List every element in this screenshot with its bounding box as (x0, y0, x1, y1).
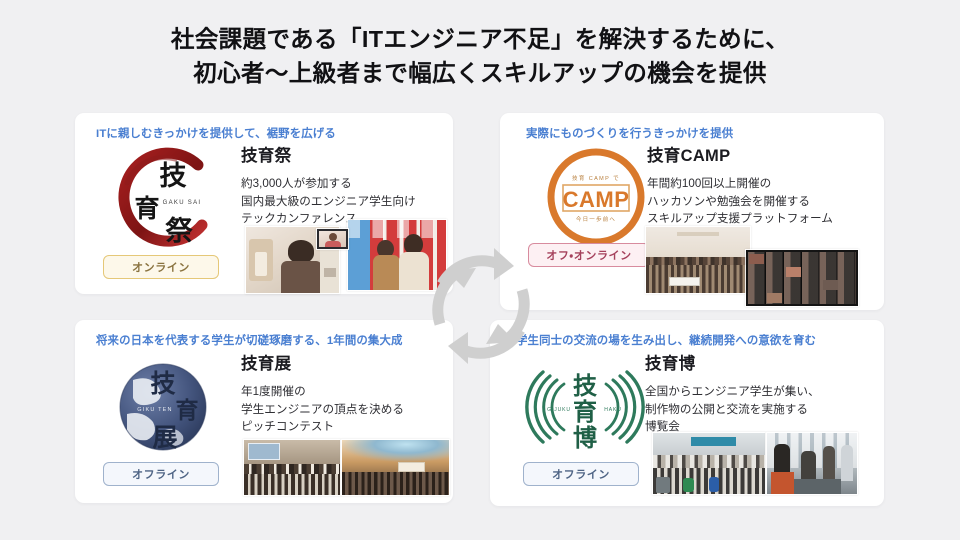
event-name: 技育博 (645, 350, 820, 374)
svg-text:展: 展 (152, 423, 177, 452)
svg-text:GIKU TEN: GIKU TEN (137, 407, 172, 413)
event-desc-line-2: 国内最大級のエンジニア学生向け (241, 193, 416, 211)
gikucamp-logo: 技育 CAMP で CAMP 今日一歩前へ (533, 141, 659, 253)
svg-text:技: 技 (573, 372, 598, 400)
card-heading: 実際にものづくりを行うきっかけを提供 (526, 125, 733, 141)
photo-audience-seats (243, 439, 341, 496)
svg-text:博: 博 (573, 424, 597, 452)
photo-expo-booths (766, 432, 858, 495)
svg-text:GIJUKU: GIJUKU (547, 407, 571, 413)
event-desc-line-3: ピッチコンテスト (241, 418, 404, 436)
photo-video-grid (745, 249, 859, 307)
page-title-line-1: 社会課題である「ITエンジニア不足」を解決するために、 (0, 22, 960, 56)
photo-group-hall (645, 226, 751, 294)
status-badge-offline: オフライン (103, 462, 219, 486)
page-title: 社会課題である「ITエンジニア不足」を解決するために、 初心者〜上級者まで幅広く… (0, 22, 960, 91)
card-text-column: 技育祭 約3,000人が参加する 国内最大級のエンジニア学生向け テックカンファ… (241, 142, 416, 228)
status-badge-offline: オフライン (523, 462, 639, 486)
svg-text:HAKU: HAKU (604, 407, 622, 413)
status-badge-hybrid: オフ・オンライン (528, 243, 650, 267)
gikusai-logo: 技 育 祭 GAKU SAI (103, 143, 229, 255)
svg-text:技: 技 (160, 161, 187, 192)
gikuten-logo: 技 育 展 GIKU TEN (103, 350, 229, 462)
event-name: 技育展 (241, 350, 404, 374)
status-badge-online: オンライン (103, 255, 219, 279)
svg-text:技: 技 (150, 369, 175, 398)
svg-text:GAKU SAI: GAKU SAI (163, 200, 202, 206)
photo-large-venue (341, 439, 450, 496)
svg-text:育: 育 (176, 398, 199, 424)
photo-seminar-room (652, 432, 766, 495)
event-desc-line-1: 全国からエンジニア学生が集い、 (645, 383, 820, 401)
event-desc-line-1: 年間約100回以上開催の (647, 175, 833, 193)
card-heading: 学生同士の交流の場を生み出し、継続開発への意欲を育む (516, 332, 816, 348)
svg-text:祭: 祭 (165, 216, 194, 247)
event-desc-line-1: 年1度開催の (241, 383, 404, 401)
event-name: 技育祭 (241, 142, 416, 166)
event-name: 技育CAMP (647, 142, 833, 166)
event-desc-line-1: 約3,000人が参加する (241, 175, 416, 193)
gikuhaku-logo: 技 育 博 GIJUKU HAKU (523, 350, 649, 462)
card-text-column: 技育CAMP 年間約100回以上開催の ハッカソンや勉強会を開催する スキルアッ… (647, 142, 833, 228)
svg-text:育: 育 (134, 194, 159, 223)
svg-text:技育 CAMP で: 技育 CAMP で (572, 174, 620, 182)
svg-text:今日一歩前へ: 今日一歩前へ (576, 215, 616, 223)
svg-text:育: 育 (573, 398, 597, 426)
photo-panel-stage (347, 219, 447, 291)
event-desc-line-2: 制作物の公開と交流を実施する (645, 401, 820, 419)
event-desc-line-2: ハッカソンや勉強会を開催する (647, 193, 833, 211)
card-text-column: 技育博 全国からエンジニア学生が集い、 制作物の公開と交流を実施する 博覧会 (645, 350, 820, 436)
page-title-line-2: 初心者〜上級者まで幅広くスキルアップの機会を提供 (0, 56, 960, 90)
photo-webcam-thumb (316, 228, 349, 250)
event-desc-line-2: 学生エンジニアの頂点を決める (241, 401, 404, 419)
card-heading: 将来の日本を代表する学生が切磋琢磨する、1年間の集大成 (96, 332, 403, 348)
card-heading: ITに親しむきっかけを提供して、裾野を広げる (96, 125, 336, 141)
card-text-column: 技育展 年1度開催の 学生エンジニアの頂点を決める ピッチコンテスト (241, 350, 404, 436)
svg-text:CAMP: CAMP (563, 187, 630, 212)
